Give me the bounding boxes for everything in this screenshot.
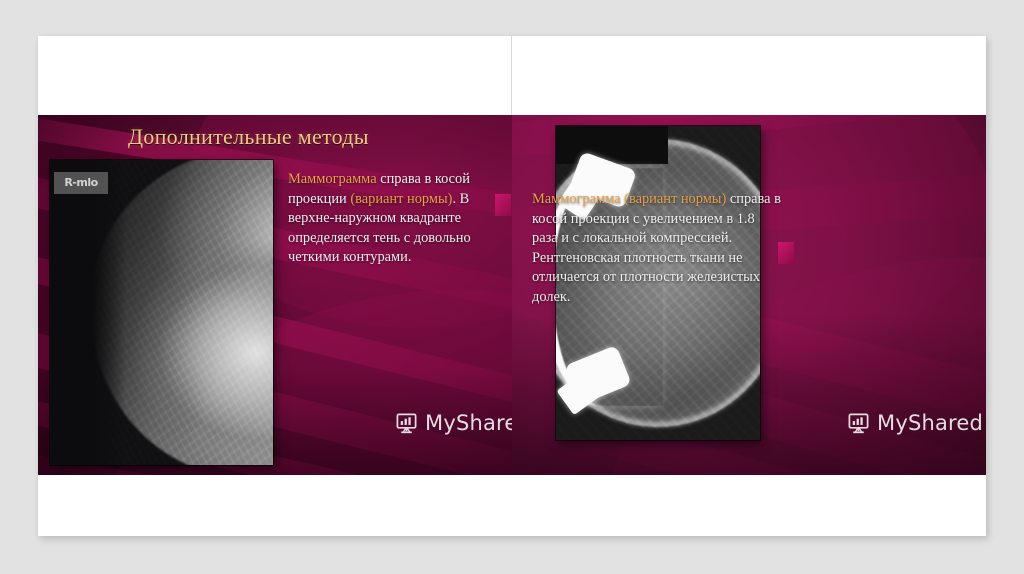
slide-right-caption: Маммограмма (вариант нормы) справа в кос… [532, 190, 782, 308]
accent-square-right [778, 242, 794, 264]
slide-right[interactable]: Маммограмма (вариант нормы) справа в кос… [512, 115, 986, 475]
watermark-text: MyShared [425, 411, 512, 435]
slides-strip: Дополнительные методы R-mlo Маммограмма … [38, 115, 986, 475]
mammogram-view-label: R-mlo [54, 172, 108, 194]
accent-square-left [495, 194, 511, 216]
presentation-chart-icon [847, 412, 870, 435]
caption-highlight-1: Маммограмма (вариант нормы) [532, 191, 726, 207]
slide-left[interactable]: Дополнительные методы R-mlo Маммограмма … [38, 115, 512, 475]
slide-title: Дополнительные методы [128, 124, 448, 150]
caption-plain-1: справа в косой проекции с увеличением в … [532, 191, 781, 305]
mammogram-image-left[interactable]: R-mlo [50, 160, 273, 465]
presentation-chart-icon [395, 412, 418, 435]
slide-left-caption: Маммограмма справа в косой проекции (вар… [288, 170, 510, 268]
caption-highlight-2: (вариант нормы) [350, 191, 452, 207]
caption-highlight-1: Маммограмма [288, 171, 377, 187]
screenshot-canvas: Дополнительные методы R-mlo Маммограмма … [0, 0, 1024, 574]
mammogram-left-shadow [50, 160, 126, 465]
watermark-left: MyShared [395, 411, 512, 435]
mammogram-right-topbar [556, 126, 668, 164]
slide-separator-line [511, 36, 512, 115]
watermark-text: MyShared [877, 411, 983, 435]
watermark-right: MyShared [847, 411, 983, 435]
